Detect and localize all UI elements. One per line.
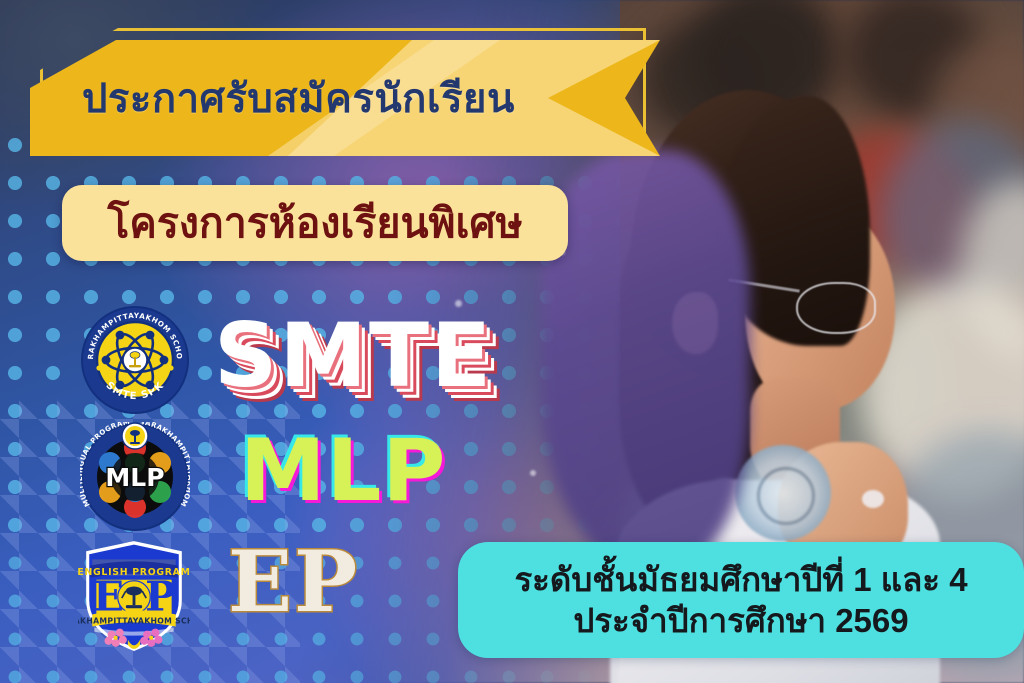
admission-poster: ประกาศรับสมัครนักเรียน โครงการห้องเรียนพ… bbox=[0, 0, 1024, 683]
school-crest-icon bbox=[118, 581, 151, 614]
mlp-logo: MULTILINGUAL PROGRAM : SARAKHAMPITTAYAKH… bbox=[80, 422, 190, 532]
ep-logo: ENGLISH PROGRAM E P SARAKHAMPITTAYAKHOM … bbox=[78, 537, 188, 647]
ring bbox=[862, 490, 884, 508]
smte-logo: SARAKHAMPITTAYAKHOM SCHOOL SMTE SPK bbox=[80, 305, 190, 415]
subtitle-text: โครงการห้องเรียนพิเศษ bbox=[107, 191, 522, 256]
school-badge-on-uniform bbox=[735, 445, 831, 541]
purple-blur-blob bbox=[540, 150, 750, 570]
level-line-1: ระดับชั้นมัธยมศึกษาปีที่ 1 และ 4 bbox=[514, 559, 967, 600]
sparkle bbox=[530, 470, 536, 476]
eyeglasses bbox=[796, 282, 876, 334]
smte-wordmark: SMTE bbox=[214, 312, 493, 400]
headline-banner: ประกาศรับสมัครนักเรียน bbox=[12, 28, 672, 156]
mlp-wordmark: MLP bbox=[240, 428, 446, 514]
level-banner: ระดับชั้นมัธยมศึกษาปีที่ 1 และ 4 ประจำปี… bbox=[458, 542, 1024, 658]
svg-text:SARAKHAMPITTAYAKHOM SCHOOL: SARAKHAMPITTAYAKHOM SCHOOL bbox=[78, 616, 190, 625]
school-crest-icon bbox=[122, 423, 148, 449]
headline-text: ประกาศรับสมัครนักเรียน bbox=[82, 40, 602, 156]
svg-text:MLP: MLP bbox=[105, 463, 164, 492]
level-line-2: ประจำปีการศึกษา 2569 bbox=[573, 600, 908, 641]
ep-wordmark: EP bbox=[228, 540, 359, 624]
subtitle-banner: โครงการห้องเรียนพิเศษ bbox=[62, 185, 568, 261]
